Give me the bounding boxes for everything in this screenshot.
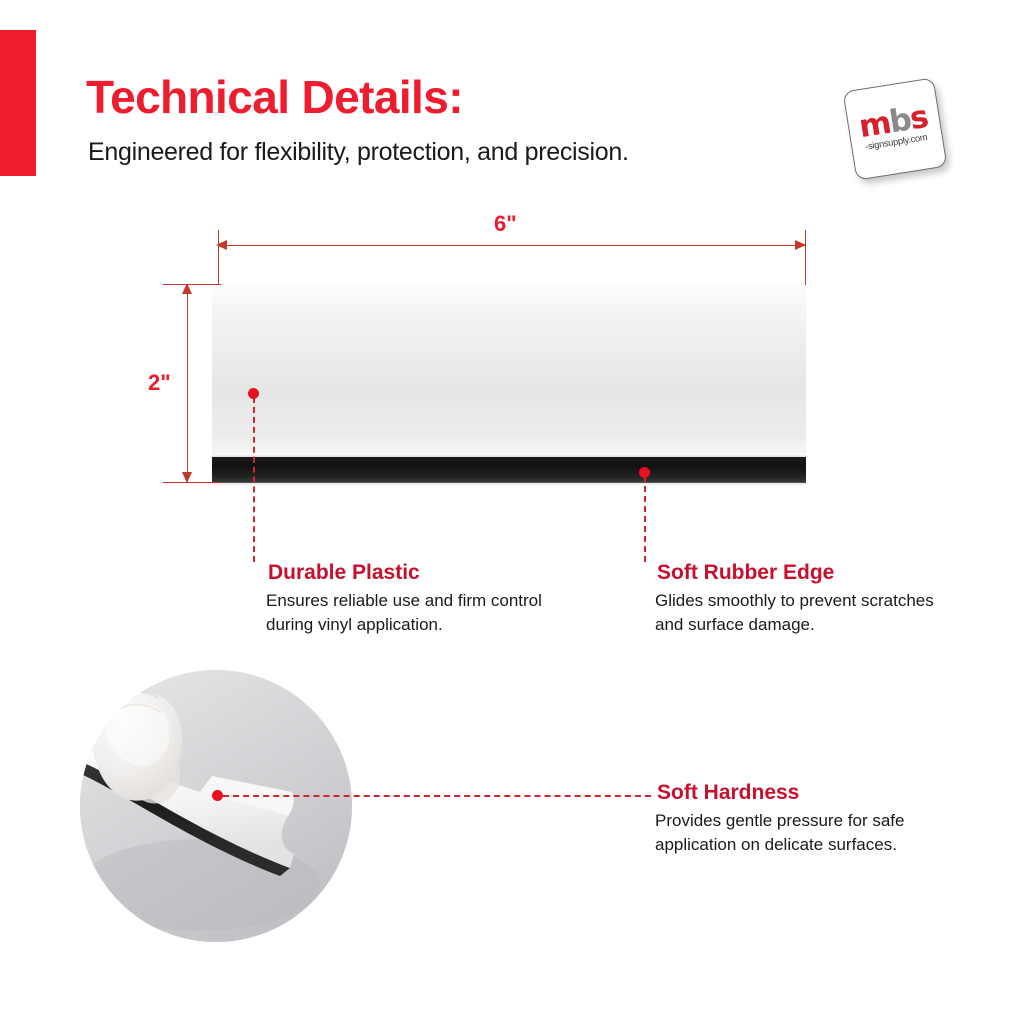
callout-connector-soft-rubber-edge (644, 476, 646, 562)
squeegee-rubber-edge (212, 457, 806, 483)
page-title: Technical Details: (86, 70, 463, 124)
squeegee-plastic-body (212, 283, 806, 457)
photo-inset-illustration (80, 670, 352, 942)
dimension-extension-line-bottom (163, 482, 221, 483)
callout-title-durable-plastic: Durable Plastic (268, 561, 420, 585)
arrow-up-icon (182, 283, 192, 294)
height-dimension-label: 2" (148, 370, 171, 396)
callout-body-soft-hardness: Provides gentle pressure for safe applic… (655, 809, 955, 857)
callout-body-durable-plastic: Ensures reliable use and firm control du… (266, 589, 566, 637)
callout-title-soft-hardness: Soft Hardness (657, 781, 799, 805)
arrow-left-icon (216, 240, 227, 250)
page-subtitle: Engineered for flexibility, protection, … (88, 138, 629, 167)
infographic-canvas: Technical Details: Engineered for flexib… (0, 0, 1024, 1024)
dimension-extension-line-top (163, 284, 221, 285)
callout-connector-durable-plastic (253, 397, 255, 562)
height-dimension-line (187, 285, 188, 482)
width-dimension-label: 6" (494, 211, 517, 237)
callout-title-soft-rubber-edge: Soft Rubber Edge (657, 561, 834, 585)
callout-connector-soft-hardness (223, 795, 651, 797)
header-accent-bar (0, 30, 36, 176)
callout-body-soft-rubber-edge: Glides smoothly to prevent scratches and… (655, 589, 955, 637)
arrow-right-icon (795, 240, 806, 250)
dimension-extension-line-right (805, 230, 806, 285)
callout-dot-soft-rubber-edge (639, 467, 650, 478)
callout-dot-durable-plastic (248, 388, 259, 399)
arrow-down-icon (182, 472, 192, 483)
product-photo-inset (80, 670, 352, 942)
width-dimension-line (218, 245, 806, 246)
dimension-extension-line-left (218, 230, 219, 285)
callout-dot-soft-hardness (212, 790, 223, 801)
logo-content: mbs -signsupply.com (843, 78, 946, 179)
brand-logo: mbs -signsupply.com (843, 80, 947, 180)
